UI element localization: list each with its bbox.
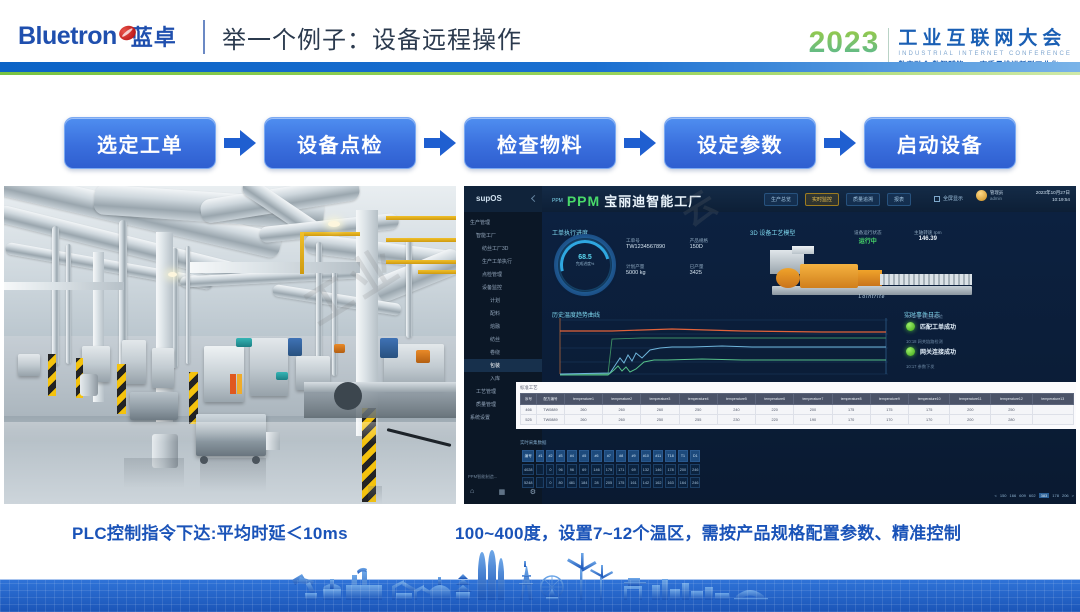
trend-chart xyxy=(552,314,892,378)
brand-logo-word: Bluetron xyxy=(18,22,117,51)
dashboard-top-tabs: 生产总览 实时监控 质量追溯 报表 xyxy=(764,193,911,206)
td-r0-c4: 260 xyxy=(641,405,679,415)
caption-row: PLC控制指令下达:平均时延＜10ms 100~400度，设置7~12个温区，需… xyxy=(0,515,1080,549)
status-event-0-time: 10:19 工单匹配校验 xyxy=(906,314,1066,320)
gauge-value: 68.5 xyxy=(560,254,610,261)
sidebar-item-10[interactable]: 卷绕 xyxy=(464,346,542,359)
gauge-metric-3-value: 3425 xyxy=(690,270,726,276)
dashboard-fullscreen-control[interactable]: 全屏显示 xyxy=(934,195,963,202)
footer-skyline xyxy=(0,549,1080,612)
btd-r1-c10: 142 xyxy=(641,477,651,488)
dashboard-tab-1[interactable]: 生产总览 xyxy=(764,193,798,206)
sidebar-item-6[interactable]: 计划 xyxy=(464,294,542,307)
pagination-page-current[interactable]: 383 xyxy=(1039,493,1050,498)
status-indicator-green-icon-2 xyxy=(906,347,915,356)
td-r1-c13: 280 xyxy=(991,415,1032,425)
bth-12: T18 xyxy=(665,450,675,462)
header-band-blue xyxy=(0,62,1080,72)
caption-right: 100~400度，设置7~12个温区，需按产品规格配置参数、精准控制 xyxy=(455,519,961,544)
dashboard-brand-label: supOS xyxy=(476,194,502,203)
bth-1: #1 xyxy=(536,450,544,462)
btd-r1-c4: 481 xyxy=(567,477,577,488)
btd-r1-c3: 80 xyxy=(556,477,564,488)
th-1: 配方编号 xyxy=(537,394,565,405)
dashboard-title-cn: 宝丽迪智能工厂 xyxy=(604,191,702,210)
td-r1-c8: 190 xyxy=(794,415,832,425)
td-r0-c6: 240 xyxy=(717,405,755,415)
btd-r0-c1 xyxy=(536,464,544,475)
footer-grid-overlay xyxy=(0,580,1080,612)
dashboard-date: 2023年10月27日 xyxy=(1020,190,1070,196)
sidebar-item-1[interactable]: 智能工厂 xyxy=(464,229,542,242)
conference-name-english: INDUSTRIAL INTERNET CONFERENCE xyxy=(898,51,1072,57)
td-r0-c2: 260 xyxy=(564,405,602,415)
td-r1-c4: 250 xyxy=(641,415,679,425)
page-header: Bluetron 蓝卓 举一个例子：设备远程操作 2023 中国·贵州 6月14… xyxy=(0,0,1080,64)
pagination-prev[interactable]: < xyxy=(995,493,997,498)
user-name: 管理员 xyxy=(990,190,1003,196)
realtime-data-table: 编号 #1 #2 #3 #4 #5 #6 #7 #8 #9 #10 #11 T1… xyxy=(520,448,702,490)
status-indicator-green-icon xyxy=(906,322,915,331)
gauge-metrics: 工单号 TW1234567890 产品规格 150D 计划产量 5000 kg … xyxy=(626,238,726,276)
btd-r1-c8: 175 xyxy=(616,477,626,488)
bth-13: T1 xyxy=(678,450,688,462)
td-r1-c2: 260 xyxy=(564,415,602,425)
bth-2: #2 xyxy=(546,450,554,462)
grid-icon[interactable]: ▦ xyxy=(499,488,506,496)
status-event-2: 10:17 参数下发 xyxy=(906,364,1066,370)
td-r1-c6: 230 xyxy=(717,415,755,425)
td-r1-c14 xyxy=(1032,415,1073,425)
realtime-data-table-panel: 实时采集数据 编号 #1 #2 #3 #4 #5 #6 #7 #8 #9 #10… xyxy=(516,438,1076,500)
btd-r0-c4: 96 xyxy=(567,464,577,475)
btd-r0-c3: 96 xyxy=(556,464,564,475)
fullscreen-label: 全屏显示 xyxy=(943,195,963,202)
th-12: temperature11 xyxy=(950,394,991,405)
td-r1-c11: 170 xyxy=(908,415,949,425)
gauge-unit: 完成进度% xyxy=(560,262,610,267)
bth-6: #6 xyxy=(591,450,601,462)
dashboard-small-logo: PPM xyxy=(552,198,563,204)
dashboard-tab-2[interactable]: 实时监控 xyxy=(805,193,839,206)
table-row: 4028 0 96 96 69 146 175 171 69 132 146 1… xyxy=(522,464,700,475)
gauge-center: 68.5 完成进度% xyxy=(560,254,610,267)
sidebar-item-11[interactable]: 包装 xyxy=(464,359,542,372)
status-event-0: 10:19 工单匹配校验 匹配工单成功 xyxy=(906,314,1066,331)
td-r1-c7: 220 xyxy=(756,415,794,425)
th-11: temperature10 xyxy=(908,394,949,405)
realtime-data-table-title: 实时采集数据 xyxy=(520,440,1074,446)
status-event-1: 10:18 网关链路检测 网关连接成功 xyxy=(906,339,1066,356)
btd-r0-c5: 69 xyxy=(579,464,589,475)
btd-r1-c6: 28 xyxy=(591,477,601,488)
header-band-green xyxy=(0,72,1080,75)
btd-r0-c14: 246 xyxy=(690,464,700,475)
bth-14: D1 xyxy=(690,450,700,462)
pagination-page-7[interactable]: 206 xyxy=(1062,493,1069,498)
standard-process-table-title: 标准工艺 xyxy=(520,385,1074,391)
btd-r0-c9: 69 xyxy=(628,464,638,475)
sidebar-item-9[interactable]: 纺丝 xyxy=(464,333,542,346)
th-14: temperature13 xyxy=(1032,394,1073,405)
status-event-0-text: 匹配工单成功 xyxy=(920,322,956,331)
td-r0-c13: 250 xyxy=(991,405,1032,415)
btd-r0-c11: 146 xyxy=(653,464,663,475)
pagination-next[interactable]: > xyxy=(1072,493,1074,498)
dashboard-header-title: PPM PPM 宝丽迪智能工厂 xyxy=(552,191,702,210)
th-10: temperature9 xyxy=(870,394,908,405)
btd-r0-c0: 4028 xyxy=(522,464,534,475)
flow-arrow-2-icon xyxy=(416,129,464,157)
bth-11: #11 xyxy=(653,450,663,462)
dashboard-user-block[interactable]: 管理员 admin xyxy=(976,190,1003,201)
conference-name: 工业互联网大会 xyxy=(898,29,1072,49)
sidebar-item-0[interactable]: 生产管理 xyxy=(464,216,542,229)
btd-r0-c7: 175 xyxy=(604,464,614,475)
btd-r0-c13: 200 xyxy=(678,464,688,475)
flow-arrow-1-icon xyxy=(216,129,264,157)
th-8: temperature7 xyxy=(794,394,832,405)
flow-step-3[interactable]: 检查物料 xyxy=(464,117,616,169)
btd-r1-c9: 161 xyxy=(628,477,638,488)
dashboard-tab-4[interactable]: 报表 xyxy=(887,193,911,206)
btd-r1-c5: 184 xyxy=(579,477,589,488)
status-event-1-time: 10:18 网关链路检测 xyxy=(906,339,1066,345)
td-r0-c11: 175 xyxy=(908,405,949,415)
flow-step-4[interactable]: 设定参数 xyxy=(664,117,816,169)
th-6: temperature5 xyxy=(717,394,755,405)
td-r0-c10: 175 xyxy=(870,405,908,415)
avatar[interactable] xyxy=(976,190,987,201)
td-r0-c0: 466 xyxy=(521,405,537,415)
pagination-page-6[interactable]: 178 xyxy=(1052,493,1059,498)
brand-logo-cn: 蓝卓 xyxy=(131,20,177,52)
status-event-1-text: 网关连接成功 xyxy=(920,347,956,356)
table-row: 466 TW0889 260 260 260 250 240 220 200 1… xyxy=(521,405,1074,415)
pagination-page-1[interactable]: 150 xyxy=(1000,493,1007,498)
th-13: temperature12 xyxy=(991,394,1032,405)
td-r0-c5: 250 xyxy=(679,405,717,415)
standard-process-table: 序号 配方编号 temperature1 temperature2 temper… xyxy=(520,393,1074,425)
btd-r1-c14: 246 xyxy=(690,477,700,488)
th-7: temperature6 xyxy=(756,394,794,405)
table-header-row: 序号 配方编号 temperature1 temperature2 temper… xyxy=(521,394,1074,405)
btd-r1-c13: 164 xyxy=(678,477,688,488)
process-flow: 选定工单 设备点检 检查物料 设定参数 启动设备 xyxy=(0,112,1080,174)
btd-r0-c6: 146 xyxy=(591,464,601,475)
bth-3: #3 xyxy=(556,450,564,462)
bth-4: #4 xyxy=(567,450,577,462)
sidebar-item-4[interactable]: 点检管理 xyxy=(464,268,542,281)
table-row: 525 TW0889 260 260 250 255 230 220 190 1… xyxy=(521,415,1074,425)
gauge-metric-0-value: TW1234567890 xyxy=(626,244,670,250)
btd-r1-c11: 162 xyxy=(653,477,663,488)
sidebar-item-7[interactable]: 配料 xyxy=(464,307,542,320)
td-r1-c1: TW0889 xyxy=(537,415,565,425)
bth-5: #5 xyxy=(579,450,589,462)
th-4: temperature3 xyxy=(641,394,679,405)
supos-dashboard-screenshot: supOS PPM PPM 宝丽迪智能工厂 生产总览 实时监控 质量追溯 报表 … xyxy=(464,186,1076,504)
sidebar-item-2[interactable]: 纺丝工厂3D xyxy=(464,242,542,255)
home-icon[interactable]: ⌂ xyxy=(470,488,474,496)
fullscreen-icon[interactable] xyxy=(934,196,940,202)
conference-year: 2023 xyxy=(809,28,880,58)
td-r1-c3: 260 xyxy=(603,415,641,425)
th-3: temperature2 xyxy=(603,394,641,405)
td-r0-c14 xyxy=(1032,405,1073,415)
btd-r0-c10: 132 xyxy=(641,464,651,475)
caption-left: PLC控制指令下达:平均时延＜10ms xyxy=(72,519,348,544)
td-r0-c1: TW0889 xyxy=(537,405,565,415)
sidebar-item-3[interactable]: 生产工单执行 xyxy=(464,255,542,268)
td-r1-c10: 170 xyxy=(870,415,908,425)
standard-process-table-panel: 标准工艺 序号 配方编号 temperature1 temperature2 t… xyxy=(516,382,1076,429)
dashboard-brand: supOS xyxy=(476,194,502,203)
dashboard-tab-3[interactable]: 质量追溯 xyxy=(846,193,880,206)
flow-arrow-3-icon xyxy=(616,129,664,157)
th-5: temperature4 xyxy=(679,394,717,405)
btd-r1-c12: 163 xyxy=(665,477,675,488)
sidebar-item-8[interactable]: 熔融 xyxy=(464,320,542,333)
td-r0-c12: 200 xyxy=(950,405,991,415)
btd-r0-c2: 0 xyxy=(546,464,554,475)
th-9: temperature8 xyxy=(832,394,870,405)
bth-10: #10 xyxy=(641,450,651,462)
brand-logo: Bluetron 蓝卓 xyxy=(18,20,177,52)
th-2: temperature1 xyxy=(564,394,602,405)
th-0: 序号 xyxy=(521,394,537,405)
bth-9: #9 xyxy=(628,450,638,462)
flow-arrow-4-icon xyxy=(816,129,864,157)
model-brand: Lointrite xyxy=(812,294,932,300)
dashboard-time: 10:19:54 xyxy=(1020,197,1070,202)
table-pagination: < 150 166 609 602 383 178 206 > xyxy=(520,493,1074,498)
flow-step-1[interactable]: 选定工单 xyxy=(64,117,216,169)
bth-0: 编号 xyxy=(522,450,534,462)
td-r0-c3: 260 xyxy=(603,405,641,415)
flow-step-5[interactable]: 启动设备 xyxy=(864,117,1016,169)
td-r1-c5: 255 xyxy=(679,415,717,425)
td-r1-c12: 200 xyxy=(950,415,991,425)
pagination-page-2[interactable]: 166 xyxy=(1010,493,1017,498)
sidebar-item-5[interactable]: 设备监控 xyxy=(464,281,542,294)
table-row: 5248 0 80 481 184 28 205 175 161 142 162… xyxy=(522,477,700,488)
dashboard-datetime: 2023年10月27日 10:19:54 xyxy=(1020,190,1070,202)
btd-r1-c0: 5248 xyxy=(522,477,534,488)
dashboard-title-en: PPM xyxy=(567,193,600,209)
gauge-metric-1-value: 150D xyxy=(690,244,726,250)
status-event-list: 10:19 工单匹配校验 匹配工单成功 10:18 网关链路检测 网关连接成功 … xyxy=(906,314,1066,370)
td-r1-c0: 525 xyxy=(521,415,537,425)
btd-r1-c7: 205 xyxy=(604,477,614,488)
gauge-metric-2-value: 5000 kg xyxy=(626,270,670,276)
bth-8: #8 xyxy=(616,450,626,462)
factory-photo xyxy=(4,186,456,504)
page-title: 举一个例子：设备远程操作 xyxy=(222,20,522,55)
status-event-2-time: 10:17 参数下发 xyxy=(906,364,1066,370)
bth-7: #7 xyxy=(604,450,614,462)
btd-r1-c1 xyxy=(536,477,544,488)
pagination-page-4[interactable]: 602 xyxy=(1029,493,1036,498)
table-header-row: 编号 #1 #2 #3 #4 #5 #6 #7 #8 #9 #10 #11 T1… xyxy=(522,450,700,462)
td-r0-c8: 200 xyxy=(794,405,832,415)
td-r1-c9: 170 xyxy=(832,415,870,425)
btd-r0-c8: 171 xyxy=(616,464,626,475)
flow-step-2[interactable]: 设备点检 xyxy=(264,117,416,169)
header-divider xyxy=(203,20,205,54)
btd-r1-c2: 0 xyxy=(546,477,554,488)
sidebar-footer-label: PPM智能制造... xyxy=(468,474,497,480)
btd-r0-c12: 178 xyxy=(665,464,675,475)
td-r0-c7: 220 xyxy=(756,405,794,415)
machine-3d-render: Lointrite xyxy=(752,234,982,302)
user-role: admin xyxy=(990,196,1003,202)
td-r0-c9: 175 xyxy=(832,405,870,415)
pagination-page-3[interactable]: 609 xyxy=(1019,493,1026,498)
